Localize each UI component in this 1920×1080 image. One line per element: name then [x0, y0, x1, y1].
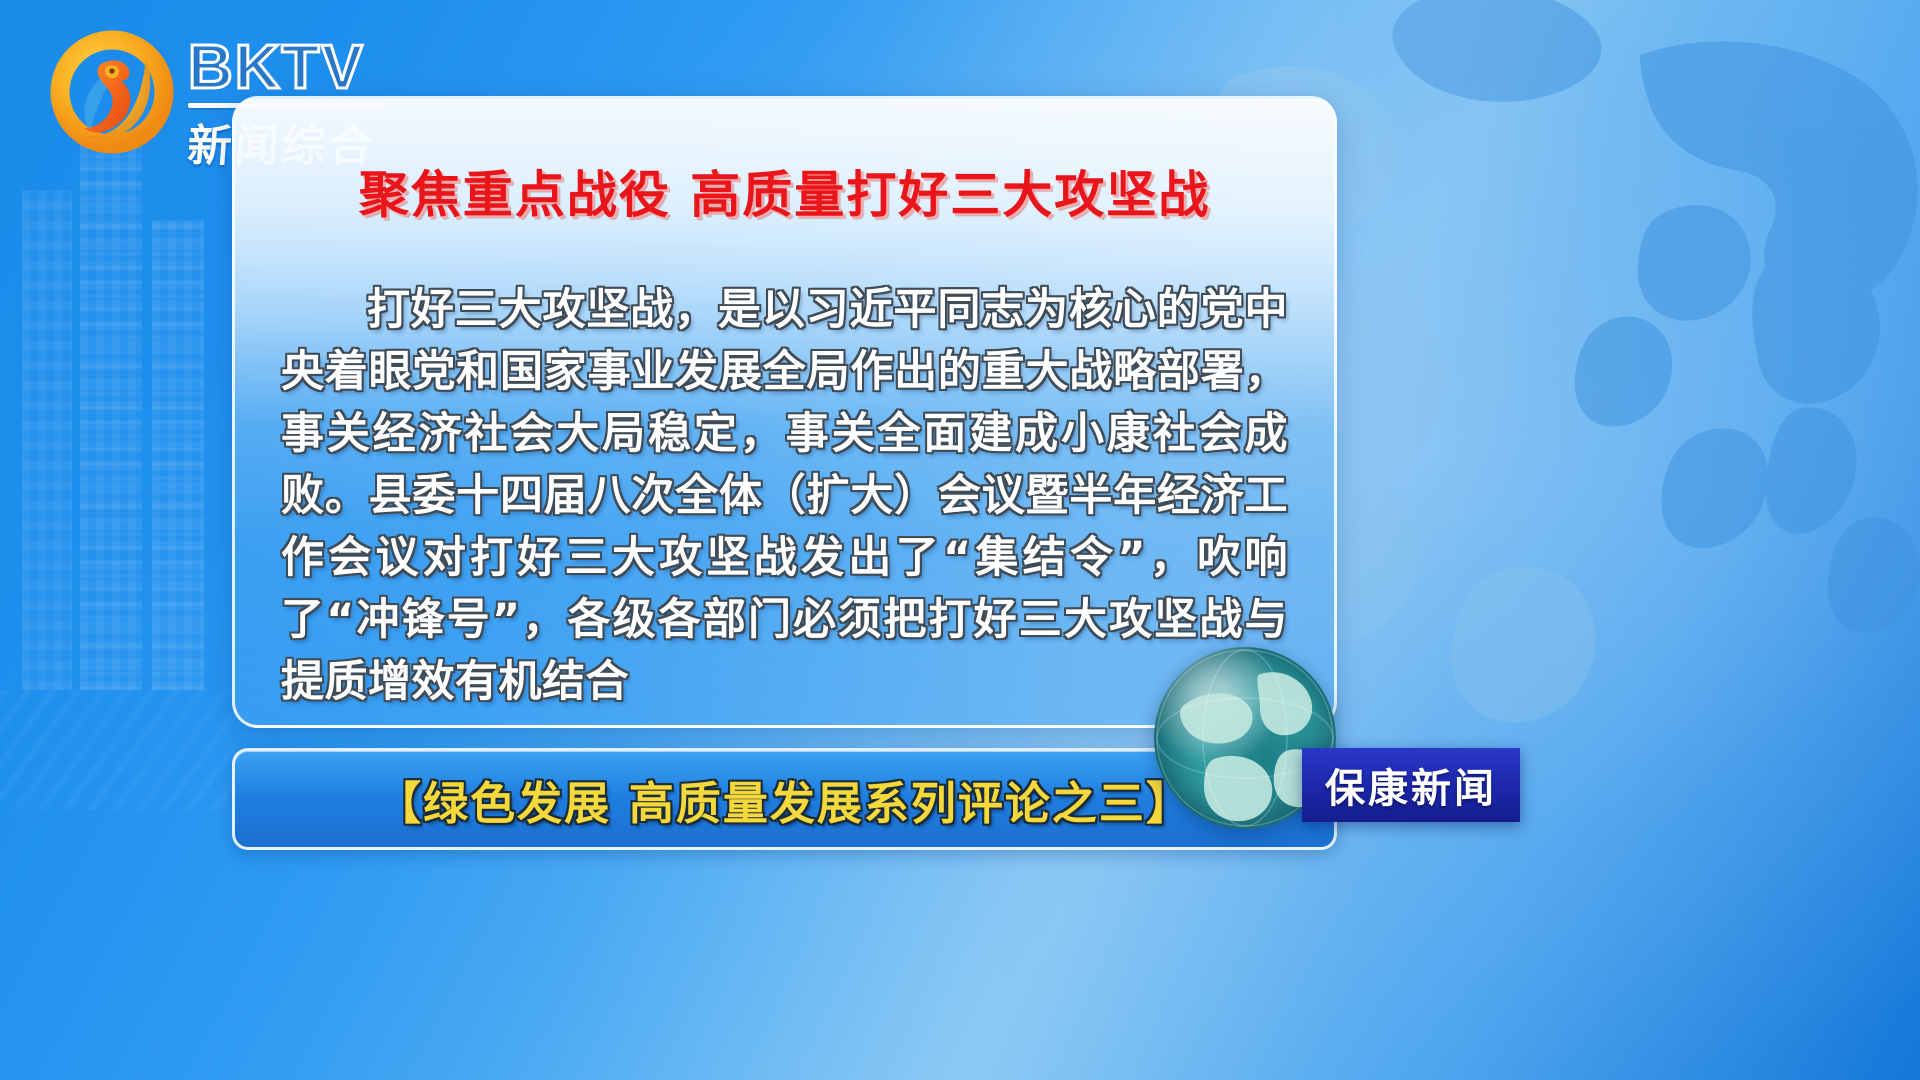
phoenix-bird-icon: [50, 28, 178, 156]
skyline-plaza: [0, 690, 235, 810]
broadcast-frame: BKTV 新闻综合 聚焦重点战役 高质量打好三大攻坚战 打好三大攻坚战，是以习近…: [0, 0, 1920, 1080]
program-badge: 保康新闻: [1302, 748, 1520, 822]
page-title: 聚焦重点战役 高质量打好三大攻坚战: [281, 155, 1288, 227]
skyline-tower: [22, 190, 72, 690]
program-name: 保康新闻: [1325, 756, 1497, 814]
background-skyline: [0, 150, 250, 870]
channel-callsign: BKTV: [188, 38, 384, 99]
content-panel: 聚焦重点战役 高质量打好三大攻坚战 打好三大攻坚战，是以习近平同志为核心的党中央…: [232, 96, 1337, 728]
commentary-body: 打好三大攻坚战，是以习近平同志为核心的党中央着眼党和国家事业发展全局作出的重大战…: [281, 279, 1288, 713]
series-label: 【绿色发展 高质量发展系列评论之三】: [376, 767, 1193, 832]
skyline-tower: [80, 145, 142, 690]
skyline-tower: [152, 220, 204, 690]
